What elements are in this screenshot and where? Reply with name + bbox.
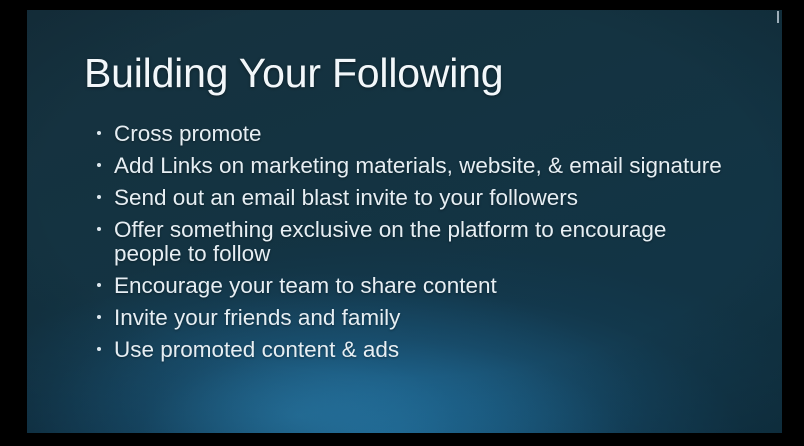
list-item-label: Offer something exclusive on the platfor… [114,218,737,266]
list-item: Add Links on marketing materials, websit… [97,154,737,178]
bullet-dot-icon [97,347,101,351]
list-item-label: Add Links on marketing materials, websit… [114,154,737,178]
list-item: Invite your friends and family [97,306,737,330]
list-item-label: Send out an email blast invite to your f… [114,186,737,210]
list-item-label: Invite your friends and family [114,306,737,330]
bullet-dot-icon [97,283,101,287]
bullet-list: Cross promote Add Links on marketing mat… [97,122,737,362]
list-item: Offer something exclusive on the platfor… [97,218,737,266]
list-item: Cross promote [97,122,737,146]
corner-tick-marker [777,11,779,23]
bullet-dot-icon [97,195,101,199]
slide-content: Building Your Following Cross promote Ad… [27,10,782,433]
list-item: Send out an email blast invite to your f… [97,186,737,210]
list-item-label: Use promoted content & ads [114,338,737,362]
list-item: Use promoted content & ads [97,338,737,362]
presentation-screen: Building Your Following Cross promote Ad… [0,0,804,446]
bullet-dot-icon [97,163,101,167]
bullet-dot-icon [97,227,101,231]
slide-canvas[interactable]: Building Your Following Cross promote Ad… [27,10,782,433]
list-item-label: Encourage your team to share content [114,274,737,298]
bullet-dot-icon [97,131,101,135]
slide-title: Building Your Following [84,48,503,98]
list-item-label: Cross promote [114,122,737,146]
list-item: Encourage your team to share content [97,274,737,298]
bullet-dot-icon [97,315,101,319]
